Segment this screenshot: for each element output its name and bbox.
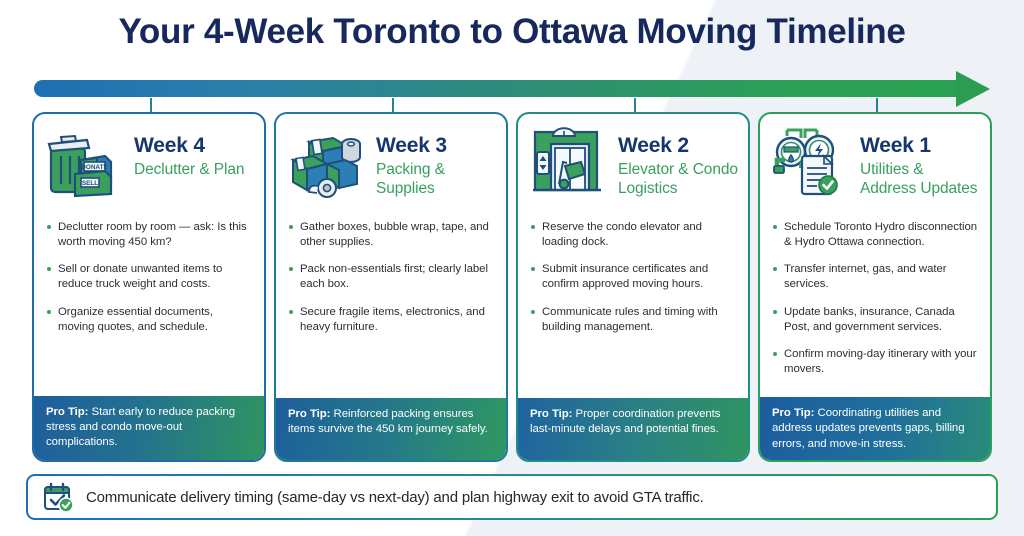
week-subtitle: Utilities & Address Updates (860, 160, 980, 199)
list-item: Communicate rules and timing with buildi… (530, 305, 736, 335)
elevator-handtruck-icon (526, 124, 612, 200)
bottom-banner: Communicate delivery timing (same-day vs… (26, 474, 998, 520)
infographic-page: Your 4-Week Toronto to Ottawa Moving Tim… (0, 0, 1024, 536)
card-heading-text: Week 4 Declutter & Plan (134, 124, 254, 179)
list-item: Transfer internet, gas, and water servic… (772, 262, 978, 292)
packing-boxes-tape-icon (284, 124, 370, 200)
week-card-4[interactable]: DONATE SELL Week 4 Declutter & Plan Decl… (32, 112, 266, 462)
list-item: Declutter room by room — ask: Is this wo… (46, 220, 252, 250)
week-subtitle: Elevator & Condo Logistics (618, 160, 738, 199)
list-item: Reserve the condo elevator and loading d… (530, 220, 736, 250)
list-item: Secure fragile items, electronics, and h… (288, 305, 494, 335)
pro-tip-label: Pro Tip: (288, 408, 330, 420)
card-header: DONATE SELL Week 4 Declutter & Plan (34, 114, 264, 210)
card-heading-text: Week 3 Packing & Supplies (376, 124, 496, 199)
pro-tip-footer: Pro Tip: Reinforced packing ensures item… (276, 398, 506, 460)
card-heading-text: Week 2 Elevator & Condo Logistics (618, 124, 738, 199)
week-card-1[interactable]: Week 1 Utilities & Address Updates Sched… (758, 112, 992, 462)
pro-tip-footer: Pro Tip: Coordinating utilities and addr… (760, 397, 990, 460)
task-list: Gather boxes, bubble wrap, tape, and oth… (276, 210, 506, 398)
list-item: Submit insurance certificates and confir… (530, 262, 736, 292)
pro-tip-label: Pro Tip: (530, 408, 572, 420)
page-title: Your 4-Week Toronto to Ottawa Moving Tim… (0, 0, 1024, 51)
week-subtitle: Packing & Supplies (376, 160, 496, 199)
banner-text: Communicate delivery timing (same-day vs… (86, 489, 704, 506)
pro-tip-label: Pro Tip: (772, 407, 814, 419)
week-label: Week 4 (134, 134, 254, 157)
week-label: Week 1 (860, 134, 980, 157)
card-header: Week 3 Packing & Supplies (276, 114, 506, 210)
task-list: Reserve the condo elevator and loading d… (518, 210, 748, 398)
pro-tip-footer: Pro Tip: Proper coordination prevents la… (518, 398, 748, 460)
pro-tip-label: Pro Tip: (46, 406, 88, 418)
arrow-bar (34, 80, 958, 97)
pro-tip-footer: Pro Tip: Start early to reduce packing s… (34, 396, 264, 460)
list-item: Sell or donate unwanted items to reduce … (46, 262, 252, 292)
timeline-arrow (34, 76, 990, 102)
calendar-check-icon (42, 481, 74, 513)
week-card-2[interactable]: Week 2 Elevator & Condo Logistics Reserv… (516, 112, 750, 462)
arrow-head-icon (956, 71, 990, 107)
task-list: Schedule Toronto Hydro disconnection & H… (760, 210, 990, 397)
week-label: Week 3 (376, 134, 496, 157)
list-item: Gather boxes, bubble wrap, tape, and oth… (288, 220, 494, 250)
task-list: Declutter room by room — ask: Is this wo… (34, 210, 264, 396)
svg-text:SELL: SELL (82, 180, 98, 187)
svg-text:DONATE: DONATE (81, 164, 108, 171)
list-item: Organize essential documents, moving quo… (46, 305, 252, 335)
card-header: Week 1 Utilities & Address Updates (760, 114, 990, 210)
list-item: Confirm moving-day itinerary with your m… (772, 347, 978, 377)
donate-sell-bin-icon: DONATE SELL (42, 124, 128, 200)
list-item: Schedule Toronto Hydro disconnection & H… (772, 220, 978, 250)
week-cards-row: DONATE SELL Week 4 Declutter & Plan Decl… (32, 112, 992, 462)
list-item: Pack non-essentials first; clearly label… (288, 262, 494, 292)
list-item: Update banks, insurance, Canada Post, an… (772, 305, 978, 335)
week-subtitle: Declutter & Plan (134, 160, 254, 179)
week-card-3[interactable]: Week 3 Packing & Supplies Gather boxes, … (274, 112, 508, 462)
utility-meters-checklist-icon (768, 124, 854, 200)
card-heading-text: Week 1 Utilities & Address Updates (860, 124, 980, 199)
week-label: Week 2 (618, 134, 738, 157)
card-header: Week 2 Elevator & Condo Logistics (518, 114, 748, 210)
